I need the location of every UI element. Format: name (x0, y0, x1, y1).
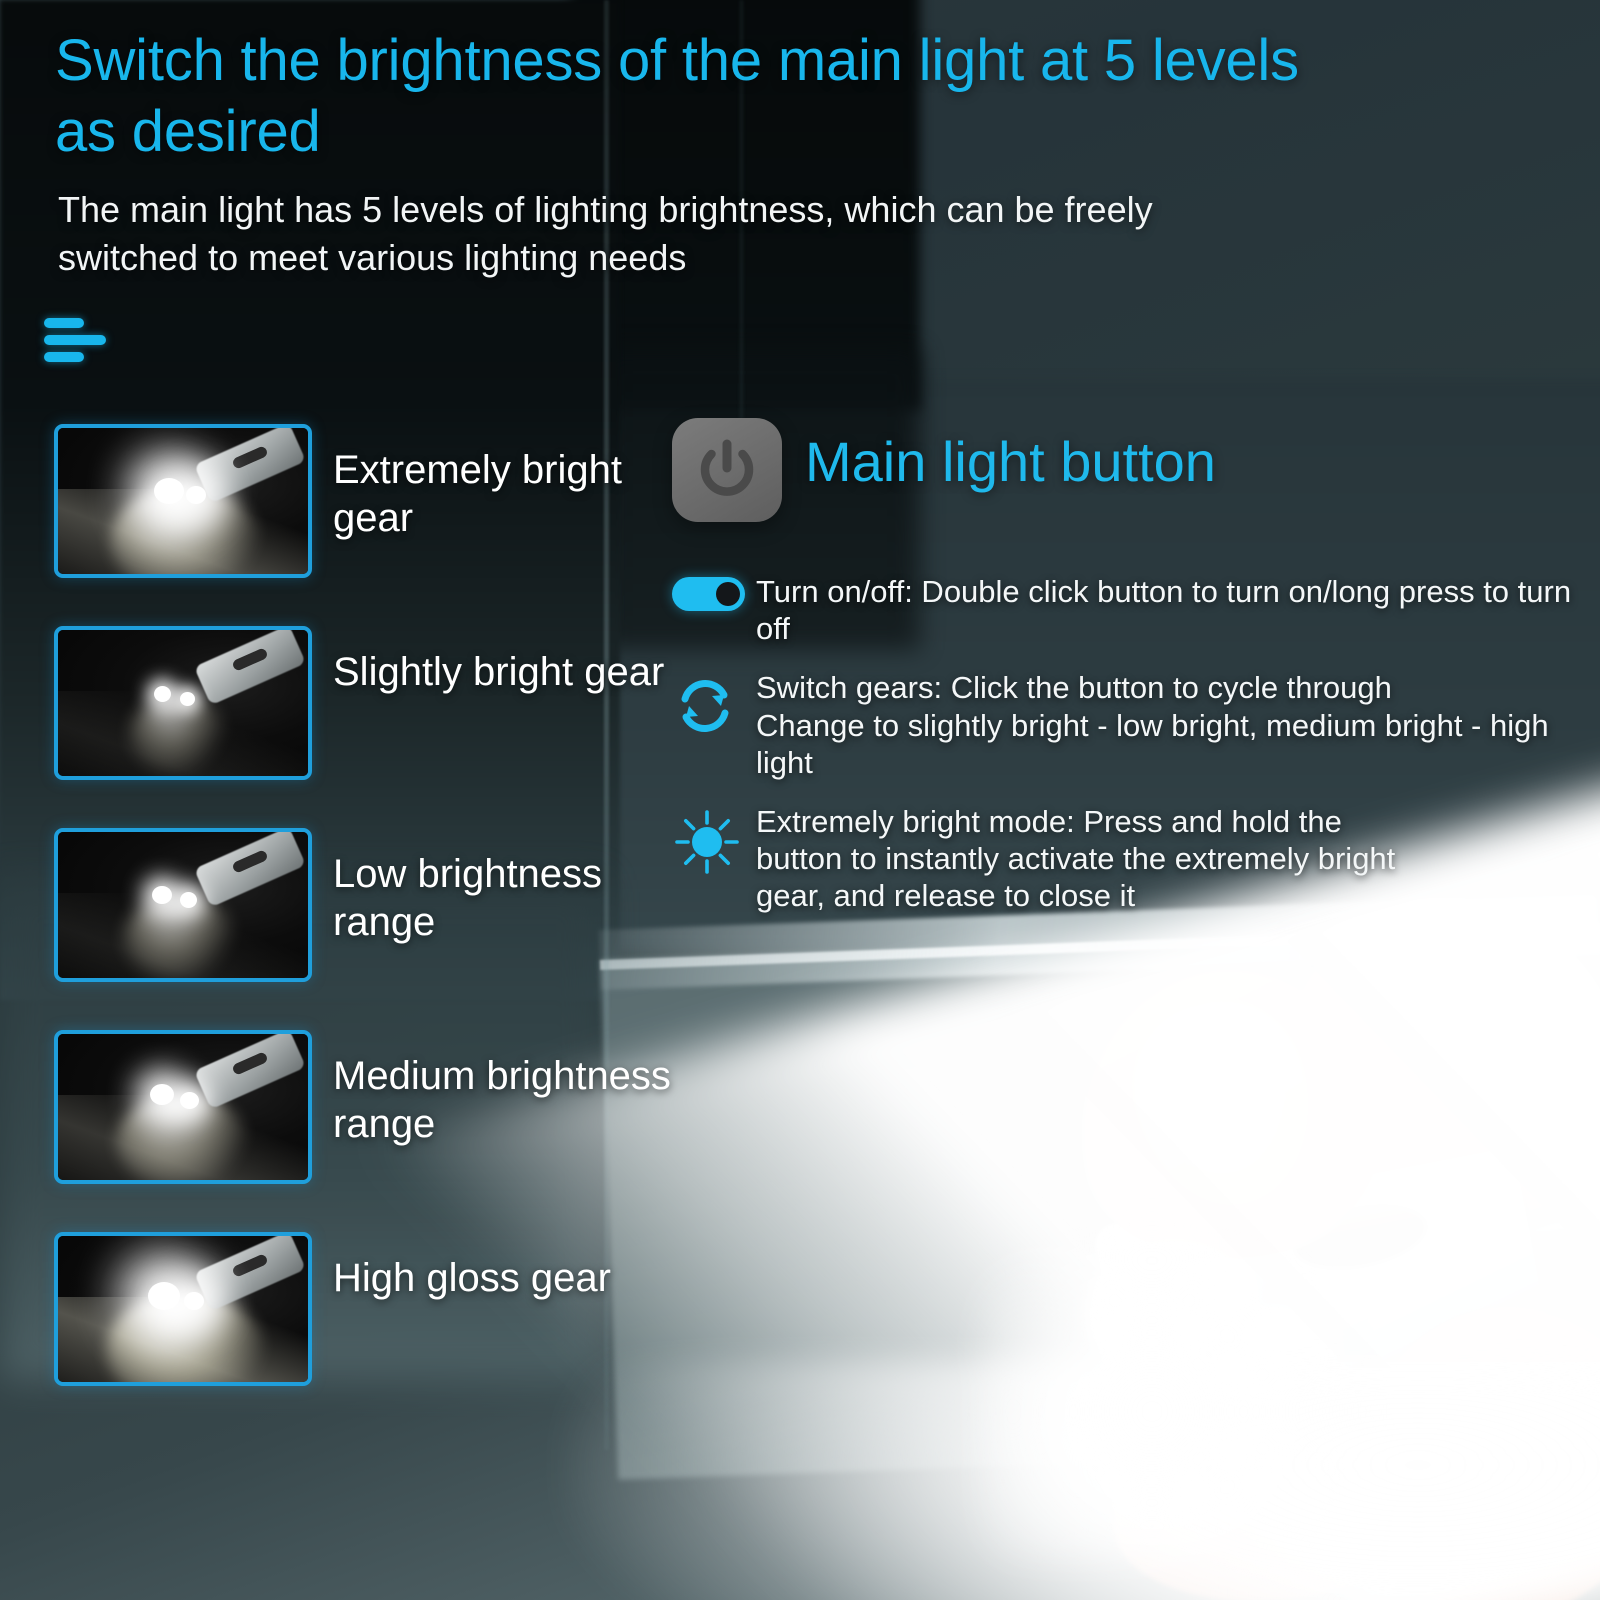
power-icon (691, 434, 763, 506)
cycle-arrows-icon (672, 673, 738, 739)
gear-photo (58, 1236, 308, 1382)
gear-thumbnail-medium-brightness[interactable] (54, 1030, 312, 1184)
main-light-button-section: Main light button Turn on/off: Double cl… (672, 418, 1572, 540)
main-light-button-bullets: Turn on/off: Double click button to turn… (672, 573, 1572, 937)
gear-thumbnail-slightly-bright[interactable] (54, 626, 312, 780)
gear-photo-led-primary (150, 1084, 174, 1105)
gear-row: Low brightness range (54, 828, 674, 1030)
brightness-gear-list: Extremely bright gear Slightly bright ge… (54, 424, 674, 1434)
gear-row: High gloss gear (54, 1232, 674, 1434)
power-button-key[interactable] (672, 418, 782, 522)
gear-thumbnail-high-gloss[interactable] (54, 1232, 312, 1386)
gear-photo (58, 630, 308, 776)
bullet-switch-gears: Switch gears: Click the button to cycle … (672, 669, 1572, 781)
gear-row: Medium brightness range (54, 1030, 674, 1232)
gear-label: Low brightness range (333, 850, 673, 946)
bullet-icon-slot (672, 669, 756, 739)
decorative-bar-short-bottom (44, 352, 84, 362)
gear-photo-led-secondary (186, 486, 206, 504)
bullet-turn-on-off: Turn on/off: Double click button to turn… (672, 573, 1572, 647)
gear-thumbnail-low-brightness[interactable] (54, 828, 312, 982)
main-light-button-title: Main light button (805, 434, 1216, 490)
gear-photo-beam (116, 1094, 248, 1184)
toggle-switch-icon[interactable] (672, 577, 745, 611)
bullet-icon-slot (672, 803, 756, 877)
gear-thumbnail-extremely-bright[interactable] (54, 424, 312, 578)
gear-photo-led-primary (152, 886, 172, 904)
decorative-bar-short-top (44, 318, 84, 328)
bullet-text: Extremely bright mode: Press and hold th… (756, 803, 1395, 915)
gear-photo (58, 1034, 308, 1180)
gear-photo-led-secondary (180, 692, 195, 706)
page-title: Switch the brightness of the main light … (55, 26, 1335, 168)
gear-photo-led-primary (154, 478, 184, 504)
bullet-extremely-bright-mode: Extremely bright mode: Press and hold th… (672, 803, 1572, 915)
sun-icon (672, 807, 742, 877)
bullet-text: Turn on/off: Double click button to turn… (756, 573, 1572, 647)
gear-photo (58, 428, 308, 574)
page-subtitle: The main light has 5 levels of lighting … (58, 186, 1158, 281)
decorative-bar-long (44, 335, 106, 345)
main-light-button-header: Main light button (672, 418, 1572, 540)
gear-photo-led-secondary (180, 892, 197, 908)
gear-photo-led-primary (148, 1282, 180, 1310)
gear-row: Slightly bright gear (54, 626, 674, 828)
infographic-page: Switch the brightness of the main light … (0, 0, 1600, 1600)
gear-label: Extremely bright gear (333, 446, 673, 542)
gear-label: High gloss gear (333, 1254, 673, 1302)
hand-with-flashlight-photo (960, 980, 1600, 1600)
gear-photo-beam (130, 696, 226, 774)
bullet-text: Switch gears: Click the button to cycle … (756, 669, 1572, 781)
gear-photo-beam (124, 896, 236, 982)
bullet-icon-slot (672, 573, 756, 611)
gear-photo-led-secondary (184, 1292, 204, 1310)
gear-row: Extremely bright gear (54, 424, 674, 626)
gear-photo-led-secondary (180, 1092, 199, 1109)
decorative-bars-icon (44, 318, 124, 380)
gear-label: Medium brightness range (333, 1052, 673, 1148)
toggle-knob (716, 582, 740, 606)
gear-label: Slightly bright gear (333, 648, 673, 696)
gear-photo (58, 832, 308, 978)
gear-photo-led-primary (154, 686, 171, 702)
